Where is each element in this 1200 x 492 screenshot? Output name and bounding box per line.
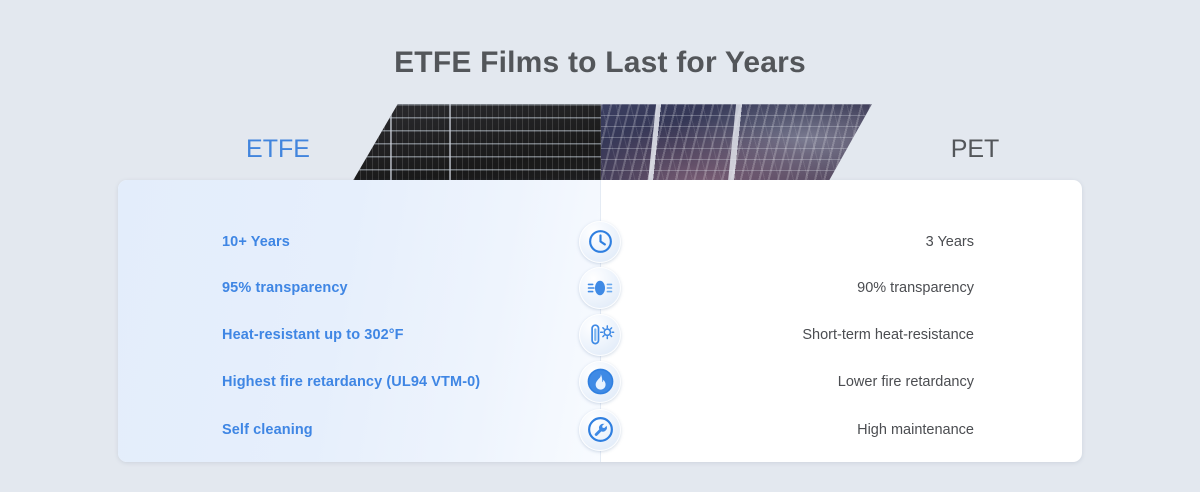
- row-icon-cell: [542, 311, 658, 358]
- etfe-value: Highest fire retardancy (UL94 VTM-0): [118, 358, 542, 405]
- thermometer-sun-icon: [579, 314, 621, 356]
- etfe-value: 10+ Years: [118, 218, 542, 265]
- row-icon-cell: [542, 264, 658, 311]
- pet-value: High maintenance: [658, 406, 1082, 453]
- pet-value: Short-term heat-resistance: [658, 311, 1082, 358]
- table-row: 10+ Years 3 Years: [118, 218, 1082, 265]
- pet-value: 90% transparency: [658, 264, 1082, 311]
- comparison-infographic: ETFE Films to Last for Years ETFE PET 10…: [0, 0, 1200, 492]
- flame-icon: [579, 361, 621, 403]
- table-row: 95% transparency: [118, 264, 1082, 311]
- etfe-value: 95% transparency: [118, 264, 542, 311]
- etfe-value: Self cleaning: [118, 406, 542, 453]
- comparison-card: 10+ Years 3 Years 95% transparency: [118, 180, 1082, 462]
- pet-value: 3 Years: [658, 218, 1082, 265]
- table-row: Highest fire retardancy (UL94 VTM-0) Low…: [118, 358, 1082, 405]
- row-icon-cell: [542, 218, 658, 265]
- table-row: Self cleaning High maintenance: [118, 406, 1082, 453]
- page-title: ETFE Films to Last for Years: [0, 46, 1200, 80]
- clock-icon: [579, 221, 621, 263]
- comparison-rows: 10+ Years 3 Years 95% transparency: [118, 180, 1082, 462]
- row-icon-cell: [542, 358, 658, 405]
- pet-value: Lower fire retardancy: [658, 358, 1082, 405]
- wrench-icon: [579, 409, 621, 451]
- table-row: Heat-resistant up to 302°F: [118, 311, 1082, 358]
- etfe-value: Heat-resistant up to 302°F: [118, 311, 542, 358]
- transparency-icon: [579, 267, 621, 309]
- column-header-pet: PET: [885, 135, 1065, 164]
- row-icon-cell: [542, 406, 658, 453]
